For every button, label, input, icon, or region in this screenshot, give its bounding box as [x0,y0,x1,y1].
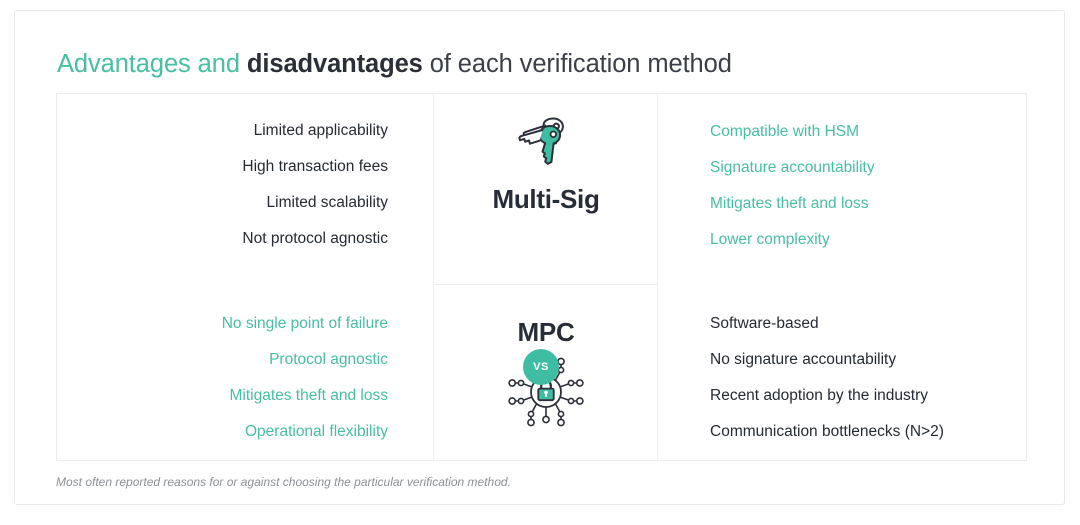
page-title: Advantages and disadvantages of each ver… [57,47,732,81]
mpc-advantages-column: No single point of failure Protocol agno… [57,284,433,461]
list-item: No signature accountability [710,351,1028,369]
list-item: No single point of failure [57,315,388,333]
mpc-disadvantages-column: Software-based No signature accountabili… [658,284,1028,461]
list-item: Communication bottlenecks (N>2) [710,423,1028,441]
multisig-disadvantages-column: Limited applicability High transaction f… [57,94,433,284]
multisig-label: Multi-Sig [434,184,658,214]
page-title-accent: Advantages and [57,50,247,78]
mpc-label: MPC [434,317,658,347]
screenshot-root: Advantages and disadvantages of each ver… [0,0,1080,525]
list-item: High transaction fees [57,158,388,176]
table-caption: Most often reported reasons for or again… [56,475,511,489]
list-item: Limited scalability [57,194,388,212]
multisig-center-cell: Multi-Sig [434,94,658,284]
list-item: Recent adoption by the industry [710,387,1028,405]
list-item: Lower complexity [710,231,1028,249]
page-title-strong: disadvantages [247,50,423,78]
list-item: Mitigates theft and loss [57,387,388,405]
list-item: Operational flexibility [57,423,388,441]
list-item: Signature accountability [710,159,1028,177]
list-item: Software-based [710,315,1028,333]
list-item: Mitigates theft and loss [710,195,1028,213]
comparison-card: Advantages and disadvantages of each ver… [14,10,1065,505]
page-title-plain: of each verification method [423,50,732,78]
list-item: Not protocol agnostic [57,230,388,248]
comparison-table: Limited applicability High transaction f… [56,93,1027,461]
list-item: Protocol agnostic [57,351,388,369]
vs-badge: VS [523,349,559,385]
multisig-advantages-column: Compatible with HSM Signature accountabi… [658,94,1028,284]
list-item: Limited applicability [57,122,388,140]
list-item: Compatible with HSM [710,123,1028,141]
two-keys-icon [434,110,658,172]
